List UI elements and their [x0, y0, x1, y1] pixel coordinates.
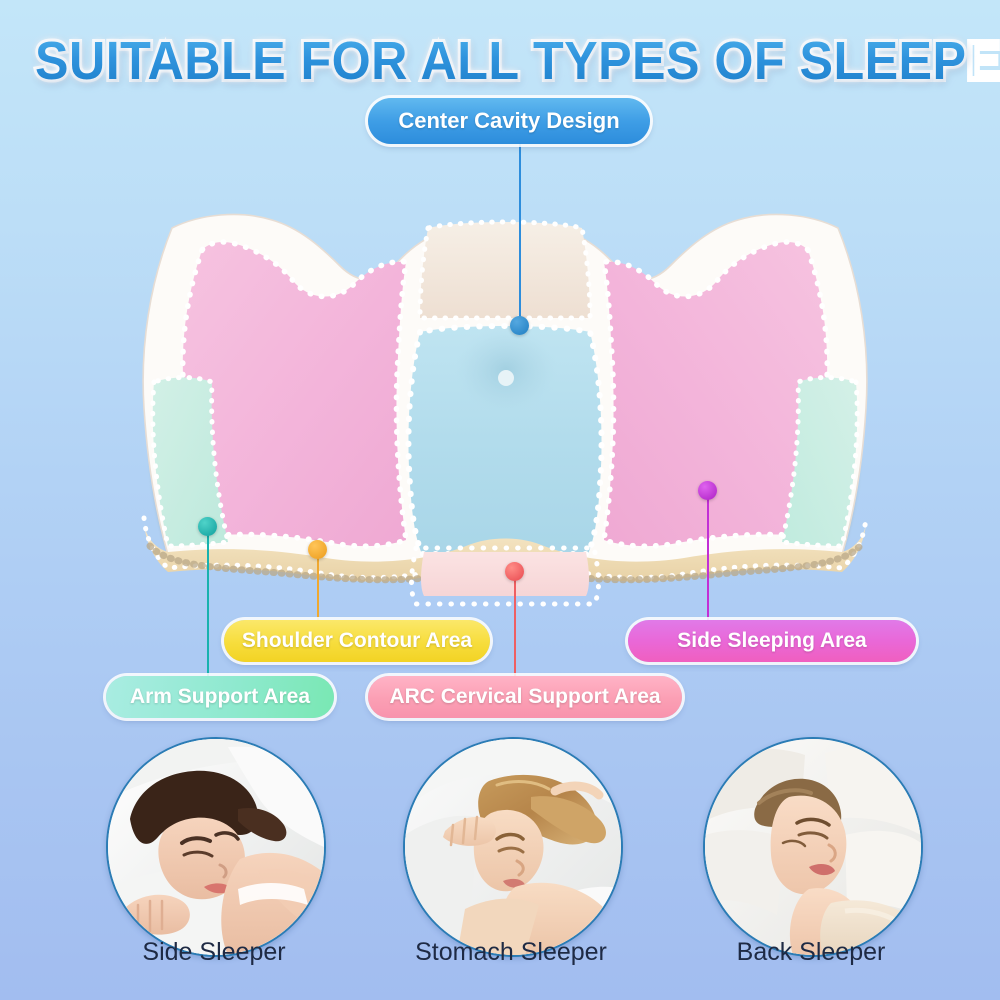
callout-arc-cervical[interactable]: ARC Cervical Support Area — [368, 676, 682, 718]
callout-label: Arm Support Area — [130, 685, 310, 709]
callout-side-sleeping[interactable]: Side Sleeping Area — [628, 620, 916, 662]
page-title: SUITABLE FOR ALL TYPES OF SLEEPERS — [35, 30, 965, 92]
caption-side-sleeper: Side Sleeper — [84, 938, 344, 967]
caption-stomach-sleeper: Stomach Sleeper — [381, 938, 641, 967]
product-pillow-illustration — [110, 132, 900, 602]
infographic-canvas: SUITABLE FOR ALL TYPES OF SLEEPERS SUITA… — [0, 0, 1000, 1000]
callout-label: Side Sleeping Area — [677, 629, 866, 653]
callout-center-cavity[interactable]: Center Cavity Design — [368, 98, 650, 144]
caption-back-sleeper: Back Sleeper — [681, 938, 941, 967]
callout-label: ARC Cervical Support Area — [389, 685, 660, 709]
photo-circle-stomach-sleeper[interactable] — [403, 737, 623, 957]
callout-shoulder[interactable]: Shoulder Contour Area — [224, 620, 490, 662]
photo-circle-side-sleeper[interactable] — [106, 737, 326, 957]
callout-arm-support[interactable]: Arm Support Area — [106, 676, 334, 718]
callout-label: Shoulder Contour Area — [242, 629, 472, 653]
callout-label: Center Cavity Design — [398, 108, 619, 134]
photo-circle-back-sleeper[interactable] — [703, 737, 923, 957]
